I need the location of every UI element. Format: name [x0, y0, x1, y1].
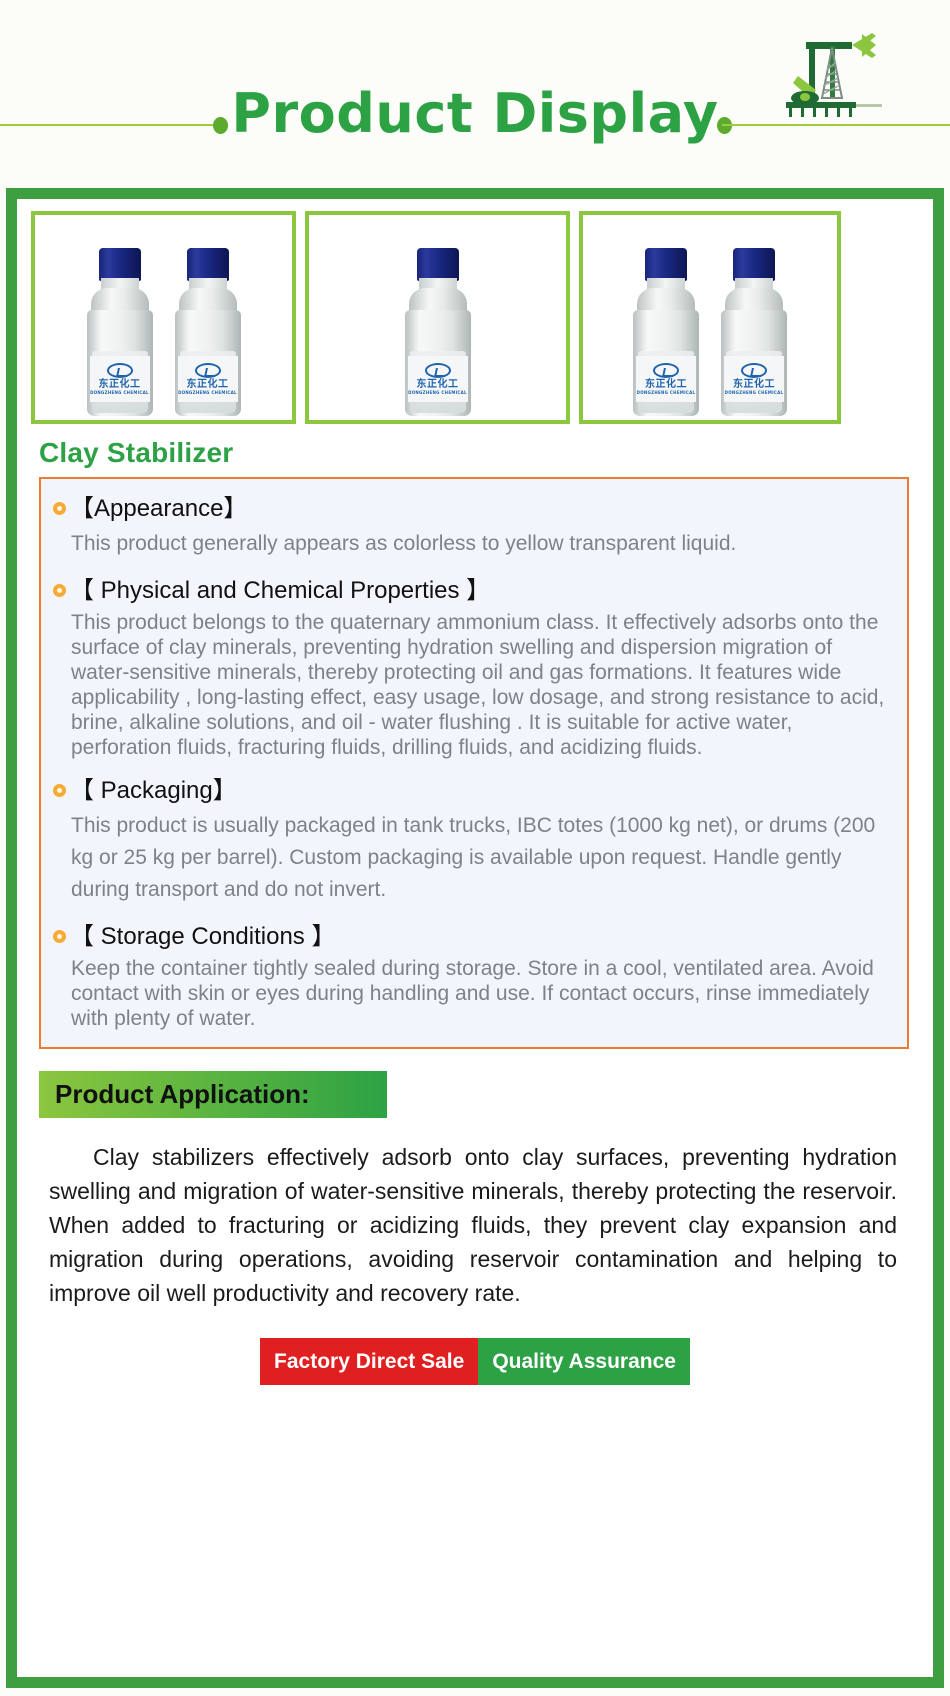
product-application-text: Clay stabilizers effectively adsorb onto…	[49, 1140, 897, 1310]
spec-heading-packaging: 【 Packaging】	[53, 774, 887, 808]
bullet-icon	[53, 930, 66, 943]
spec-heading-storage: 【 Storage Conditions 】	[53, 920, 887, 954]
bullet-icon	[53, 502, 66, 515]
bottle-label-cn: 东正化工	[645, 379, 687, 390]
bullet-icon	[53, 584, 66, 597]
dongzheng-logo-icon	[107, 363, 133, 378]
bottle-label-cn: 东正化工	[733, 379, 775, 390]
dongzheng-logo-icon	[195, 363, 221, 378]
bottle-label-cn: 东正化工	[417, 379, 459, 390]
product-bottle: 东正化工 DONGZHENG CHEMICAL	[171, 248, 245, 418]
page-header: Product Display	[0, 0, 950, 178]
bullet-icon	[53, 784, 66, 797]
product-photo-1[interactable]: 东正化工 DONGZHENG CHEMICAL 东正化工	[31, 211, 296, 424]
bottle-label-en: DONGZHENG CHEMICAL	[637, 390, 696, 395]
quality-assurance-button[interactable]: Quality Assurance	[478, 1338, 690, 1385]
spec-body-storage: Keep the container tightly sealed during…	[53, 956, 887, 1031]
product-application-banner: Product Application:	[39, 1071, 387, 1118]
bottle-label-en: DONGZHENG CHEMICAL	[725, 390, 784, 395]
product-photo-3[interactable]: 东正化工 DONGZHENG CHEMICAL 东正化工	[579, 211, 841, 424]
product-bottle: 东正化工 DONGZHENG CHEMICAL	[401, 248, 475, 418]
product-gallery: 东正化工 DONGZHENG CHEMICAL 东正化工	[31, 211, 919, 424]
bottle-label-en: DONGZHENG CHEMICAL	[90, 390, 149, 395]
bottle-label-cn: 东正化工	[99, 379, 141, 390]
product-application-label: Product Application:	[55, 1079, 310, 1110]
product-display-page: Product Display	[0, 0, 950, 1696]
bottle-label-en: DONGZHENG CHEMICAL	[178, 390, 237, 395]
dongzheng-logo-icon	[425, 363, 451, 378]
spec-body-packaging: This product is usually packaged in tank…	[53, 810, 887, 906]
footer-button-row: Factory Direct Sale Quality Assurance	[31, 1338, 919, 1385]
product-bottle: 东正化工 DONGZHENG CHEMICAL	[717, 248, 791, 418]
product-photo-2[interactable]: 东正化工 DONGZHENG CHEMICAL	[305, 211, 570, 424]
specification-box: 【Appearance】 This product generally appe…	[39, 477, 909, 1049]
spec-body-physical-chemical: This product belongs to the quaternary a…	[53, 610, 887, 760]
spec-heading-physical-chemical: 【 Physical and Chemical Properties 】	[53, 574, 887, 608]
dongzheng-logo-icon	[741, 363, 767, 378]
content-frame: 东正化工 DONGZHENG CHEMICAL 东正化工	[6, 188, 944, 1688]
product-bottle: 东正化工 DONGZHENG CHEMICAL	[629, 248, 703, 418]
spec-body-appearance: This product generally appears as colorl…	[53, 528, 887, 560]
dongzheng-logo-icon	[653, 363, 679, 378]
product-name: Clay Stabilizer	[39, 437, 919, 469]
spec-heading-appearance: 【Appearance】	[53, 492, 887, 526]
oil-pumpjack-icon	[776, 28, 888, 123]
bottle-label-cn: 东正化工	[187, 379, 229, 390]
factory-direct-sale-button[interactable]: Factory Direct Sale	[260, 1338, 478, 1385]
header-rule-right	[722, 124, 950, 126]
product-bottle: 东正化工 DONGZHENG CHEMICAL	[83, 248, 157, 418]
bottle-label-en: DONGZHENG CHEMICAL	[408, 390, 467, 395]
